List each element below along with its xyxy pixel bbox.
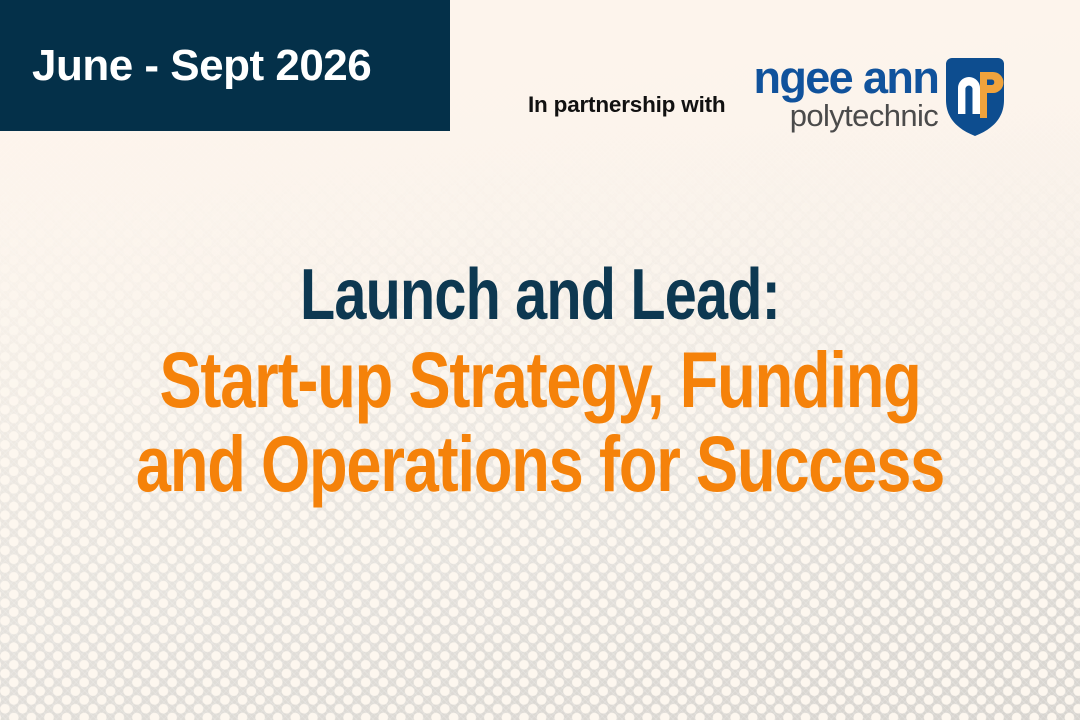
headline-line-1: Launch and Lead: xyxy=(108,258,972,333)
date-range-text: June - Sept 2026 xyxy=(32,44,371,88)
date-badge: June - Sept 2026 xyxy=(0,0,450,131)
headline-line-2: Start-up Strategy, Funding xyxy=(108,339,972,421)
ngee-ann-shield-icon xyxy=(946,58,1004,136)
logo-wordmark: ngee ann polytechnic xyxy=(753,57,938,131)
headline-block: Launch and Lead: Start-up Strategy, Fund… xyxy=(0,258,1080,505)
partnership-label: In partnership with xyxy=(528,92,725,118)
ngee-ann-polytechnic-logo: ngee ann polytechnic xyxy=(753,57,1004,136)
headline-line-3: and Operations for Success xyxy=(108,423,972,505)
logo-subtitle-text: polytechnic xyxy=(790,100,939,131)
logo-name-text: ngee ann xyxy=(753,57,938,98)
partnership-row: In partnership with ngee ann polytechnic xyxy=(528,52,1052,140)
promo-banner: June - Sept 2026 In partnership with nge… xyxy=(0,0,1080,720)
